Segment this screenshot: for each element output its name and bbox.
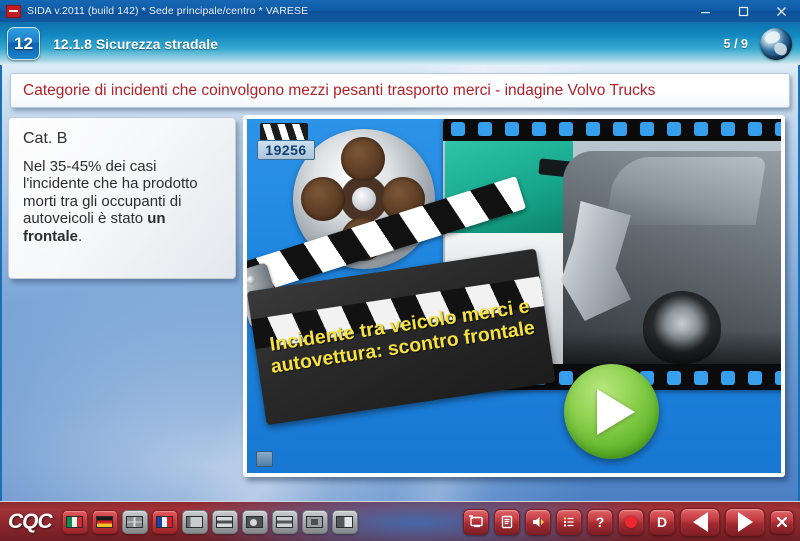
play-button[interactable] [564, 364, 659, 459]
body-text-part-2: . [78, 228, 82, 245]
record-dot [625, 516, 637, 528]
clapperboard: Incidente tra veicolo merci e autovettur… [243, 218, 564, 426]
video-id-number: 19256 [257, 140, 315, 160]
reel-hole [301, 177, 345, 221]
filmstrip-perforation [559, 122, 573, 136]
close-button[interactable] [770, 510, 794, 534]
filmstrip-perforation [613, 122, 627, 136]
flag-language-9-button[interactable] [302, 510, 328, 534]
filmstrip-perforation [667, 371, 681, 385]
photo-shadow [563, 330, 785, 364]
globe-icon[interactable] [760, 28, 792, 60]
bottom-toolbar: CQC [0, 501, 800, 541]
cqc-logo: CQC [8, 510, 52, 534]
filmstrip-perforations-top [443, 115, 785, 141]
flag-language-5-button[interactable] [182, 510, 208, 534]
reel-hub [352, 187, 376, 211]
filmstrip-perforation [478, 122, 492, 136]
filmstrip-perforation [694, 371, 708, 385]
filmstrip-perforation [694, 122, 708, 136]
flag-united-kingdom-icon [126, 516, 143, 528]
flag-language-8-icon [276, 516, 293, 528]
lesson-header: 12 12.1.8 Sicurezza stradale 5 / 9 [0, 22, 800, 65]
sida-logo-icon [6, 5, 21, 18]
filmstrip-perforation [775, 122, 785, 136]
window-controls [686, 0, 800, 22]
filmstrip-perforation [748, 122, 762, 136]
filmstrip-perforation [451, 122, 465, 136]
filmstrip-perforation [640, 122, 654, 136]
filmstrip-perforation [667, 122, 681, 136]
reel-hole [341, 137, 385, 181]
flag-france-button[interactable] [152, 510, 178, 534]
help-icon[interactable]: ? [587, 509, 613, 535]
filmstrip-perforation [721, 122, 735, 136]
application-window: SIDA v.2011 (build 142) * Sede principal… [0, 0, 800, 541]
video-player-panel[interactable]: Incidente tra veicolo merci e autovettur… [243, 115, 785, 477]
filmstrip-perforation [532, 122, 546, 136]
list-icon[interactable] [556, 509, 582, 535]
dictionary-icon[interactable]: D [649, 509, 675, 535]
flag-language-6-button[interactable] [212, 510, 238, 534]
screen-icon[interactable] [463, 509, 489, 535]
filmstrip-perforation [505, 122, 519, 136]
flag-language-10-icon [336, 516, 353, 528]
previous-button[interactable] [680, 508, 720, 536]
photo-car-window [606, 157, 767, 225]
close-icon[interactable] [762, 0, 800, 22]
lesson-title: 12.1.8 Sicurezza stradale [53, 36, 218, 52]
flag-language-6-icon [216, 516, 233, 528]
flag-language-10-button[interactable] [332, 510, 358, 534]
window-titlebar: SIDA v.2011 (build 142) * Sede principal… [0, 0, 800, 22]
flag-language-7-button[interactable] [242, 510, 268, 534]
flag-germany-icon [96, 516, 113, 528]
window-title: SIDA v.2011 (build 142) * Sede principal… [27, 5, 308, 17]
flag-language-5-icon [186, 516, 203, 528]
thumbnail-icon [256, 451, 273, 467]
flag-language-9-icon [306, 516, 323, 528]
flag-language-8-button[interactable] [272, 510, 298, 534]
previous-icon [693, 512, 708, 532]
category-heading: Cat. B [23, 130, 221, 148]
flag-language-7-icon [246, 516, 263, 528]
page-indicator: 5 / 9 [724, 37, 748, 51]
content-text-card: Cat. B Nel 35-45% dei casi l'incidente c… [8, 117, 236, 279]
flag-italy-icon [66, 516, 83, 528]
filmstrip-perforation [586, 122, 600, 136]
maximize-icon[interactable] [724, 0, 762, 22]
slide-title-text: Categorie di incidenti che coinvolgono m… [23, 82, 655, 100]
language-button-group [62, 510, 362, 534]
flag-united-kingdom-button[interactable] [122, 510, 148, 534]
next-icon [738, 512, 753, 532]
filmstrip-perforation [775, 371, 785, 385]
filmstrip-perforation [748, 371, 762, 385]
category-body: Nel 35-45% dei casi l'incidente che ha p… [23, 158, 221, 245]
toolbar-actions: ? D [458, 508, 794, 536]
document-icon[interactable] [494, 509, 520, 535]
hinge-bolt [246, 274, 257, 285]
body-text-part-1: Nel 35-45% dei casi l'incidente che ha p… [23, 158, 198, 227]
chapter-badge: 12 [7, 27, 40, 60]
minimize-icon[interactable] [686, 0, 724, 22]
flag-germany-button[interactable] [92, 510, 118, 534]
slide-area: Categorie di incidenti che coinvolgono m… [0, 65, 800, 501]
next-button[interactable] [725, 508, 765, 536]
video-id-badge: 19256 [257, 123, 315, 165]
audio-icon[interactable] [525, 509, 551, 535]
play-icon [597, 389, 635, 435]
filmstrip-perforation [721, 371, 735, 385]
record-icon[interactable] [618, 509, 644, 535]
slide-title-banner: Categorie di incidenti che coinvolgono m… [10, 73, 790, 108]
flag-france-icon [156, 516, 173, 528]
flag-italy-button[interactable] [62, 510, 88, 534]
